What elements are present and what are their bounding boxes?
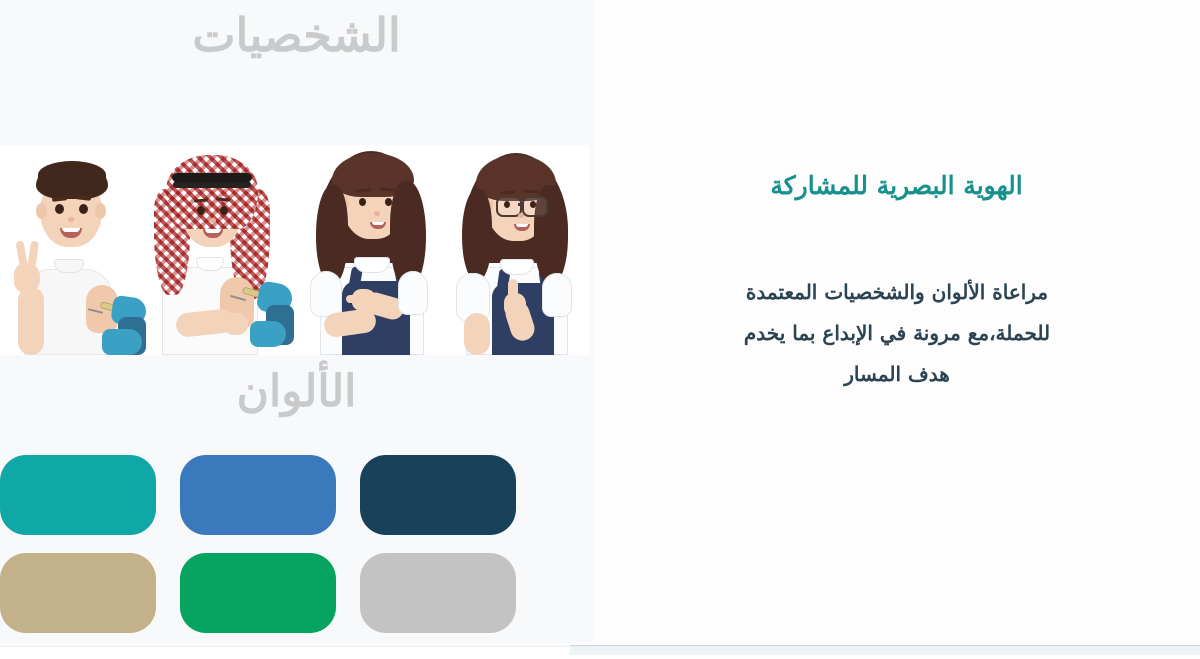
left-panel: الشخصيات [0,0,593,643]
color-swatch-navy[interactable] [360,455,516,535]
visual-identity-title: الهوية البصرية للمشاركة [593,168,1200,204]
slide-canvas: الشخصيات [0,0,1200,659]
horizontal-scrollbar-track[interactable] [570,645,1200,655]
colors-section-heading: الألوان [0,364,593,420]
character-boy-victory-vaccination [0,145,146,355]
characters-section-heading: الشخصيات [0,6,593,64]
description-line-3: هدف المسار [657,354,1137,395]
slide-edge-line [0,646,570,647]
description-line-2: للحملة،مع مرونة في الإبداع بما يخدم [657,313,1137,354]
character-girl-with-glasses [442,145,590,355]
color-swatch-green[interactable] [180,553,336,633]
character-girl-student [294,145,442,355]
description-line-1: مراعاة الألوان والشخصيات المعتمدة [657,272,1137,313]
visual-identity-description: مراعاة الألوان والشخصيات المعتمدة للحملة… [657,272,1137,395]
color-swatch-teal[interactable] [0,455,156,535]
color-swatch-gray[interactable] [360,553,516,633]
color-palette-grid [0,455,582,643]
bottom-chrome [0,643,1200,659]
color-swatch-tan[interactable] [0,553,156,633]
character-boy-shemagh-vaccination [146,145,294,355]
characters-image-strip [0,145,590,355]
right-panel: الهوية البصرية للمشاركة مراعاة الألوان و… [593,0,1200,643]
color-swatch-blue[interactable] [180,455,336,535]
